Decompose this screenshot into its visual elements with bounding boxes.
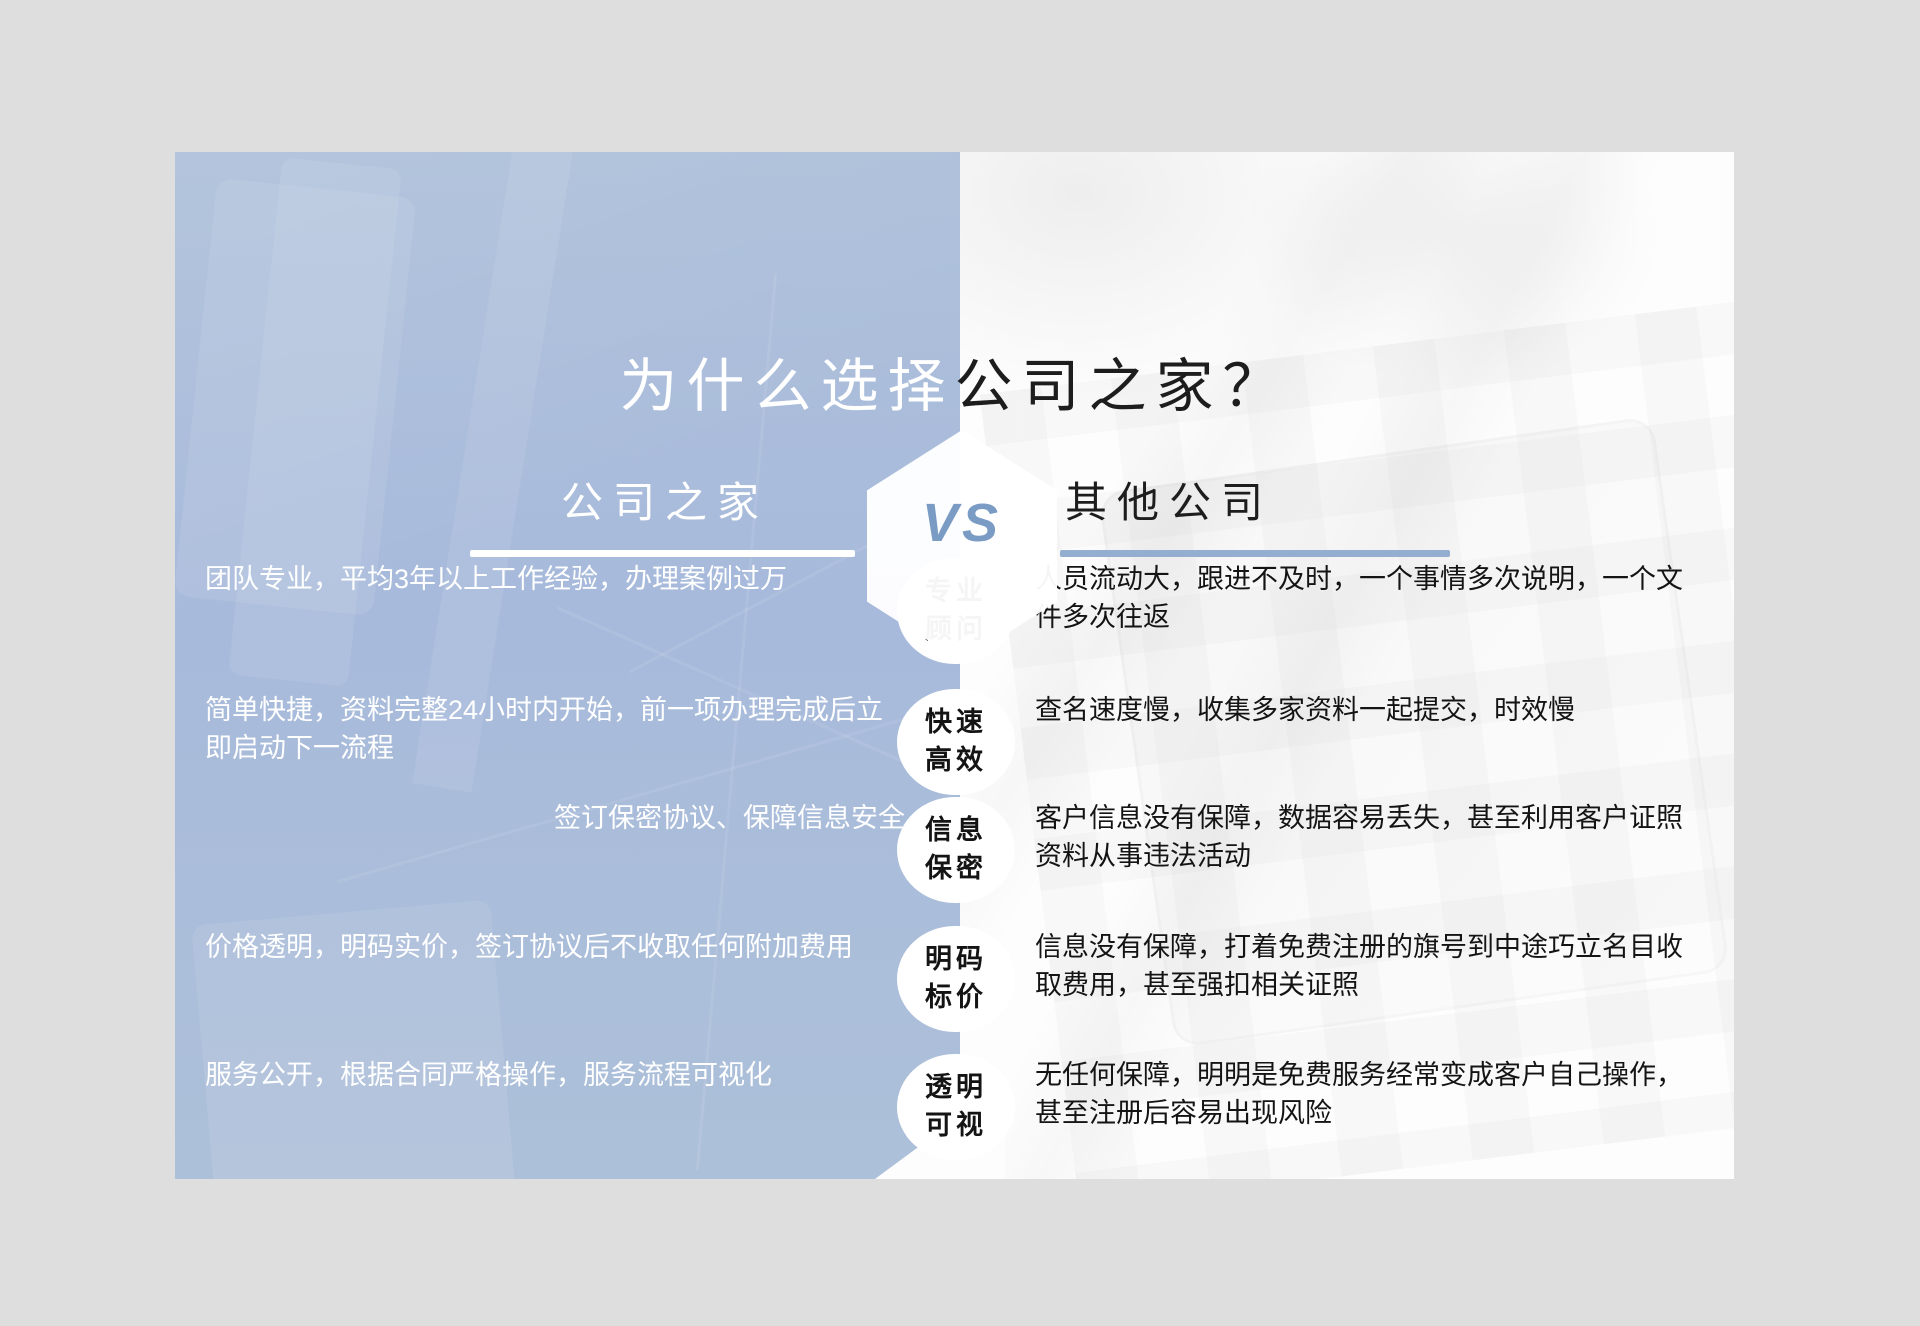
category-badge-line-2: 保密: [897, 849, 1015, 887]
comparison-row: 签订保密协议、保障信息安全信息保密客户信息没有保障，数据容易丢失，甚至利用客户证…: [175, 795, 1734, 913]
ours-heading-rule: [470, 550, 855, 557]
category-badge-line-1: 信息: [897, 811, 1015, 849]
vs-badge-label: VS: [887, 496, 1037, 550]
comparison-row: 服务公开，根据合同严格操作，服务流程可视化透明可视无任何保障，明明是免费服务经常…: [175, 1052, 1734, 1170]
comparison-row: 简单快捷，资料完整24小时内开始，前一项办理完成后立即启动下一流程快速高效查名速…: [175, 687, 1734, 805]
category-badge-line-2: 高效: [897, 741, 1015, 779]
page-title-dark-part: 公司之家？: [955, 354, 1290, 419]
category-badge-line-1: 快速: [897, 703, 1015, 741]
ours-heading: 公司之家: [465, 482, 865, 524]
comparison-slide-card: 为什么选择公司之家？ 公司之家 VS 其他公司 团队专业，平均3年以上工作经验，…: [175, 152, 1734, 1179]
page-title-light-part: 为什么选择: [619, 354, 954, 419]
category-badge: 明码标价: [897, 926, 1015, 1032]
versus-header: 公司之家 VS 其他公司: [175, 482, 1734, 602]
page-title: 为什么选择公司之家？: [175, 358, 1734, 416]
ours-cell: 签订保密协议、保障信息安全: [205, 795, 905, 837]
comparison-rows: 团队专业，平均3年以上工作经验，办理案例过万专业顾问人员流动大，跟进不及时，一个…: [175, 152, 1734, 1179]
comparison-row: 价格透明，明码实价，签订协议后不收取任何附加费用明码标价信息没有保障，打着免费注…: [175, 924, 1734, 1042]
theirs-heading-rule: [1060, 550, 1450, 557]
category-badge-line-2: 可视: [897, 1106, 1015, 1144]
ours-cell: 价格透明，明码实价，签订协议后不收取任何附加费用: [205, 924, 905, 966]
ours-cell: 简单快捷，资料完整24小时内开始，前一项办理完成后立即启动下一流程: [205, 687, 905, 767]
ours-cell: 服务公开，根据合同严格操作，服务流程可视化: [205, 1052, 905, 1094]
category-badge-line-2: 标价: [897, 978, 1015, 1016]
theirs-cell: 信息没有保障，打着免费注册的旗号到中途巧立名目收取费用，甚至强扣相关证照: [1035, 924, 1707, 1004]
theirs-cell: 查名速度慢，收集多家资料一起提交，时效慢: [1035, 687, 1707, 729]
category-badge-line-1: 明码: [897, 940, 1015, 978]
category-badge: 透明可视: [897, 1054, 1015, 1160]
theirs-heading: 其他公司: [1055, 482, 1465, 524]
category-badge: 信息保密: [897, 797, 1015, 903]
category-badge-line-1: 透明: [897, 1068, 1015, 1106]
theirs-cell: 客户信息没有保障，数据容易丢失，甚至利用客户证照资料从事违法活动: [1035, 795, 1707, 875]
category-badge: 快速高效: [897, 689, 1015, 795]
theirs-cell: 无任何保障，明明是免费服务经常变成客户自己操作，甚至注册后容易出现风险: [1035, 1052, 1707, 1132]
